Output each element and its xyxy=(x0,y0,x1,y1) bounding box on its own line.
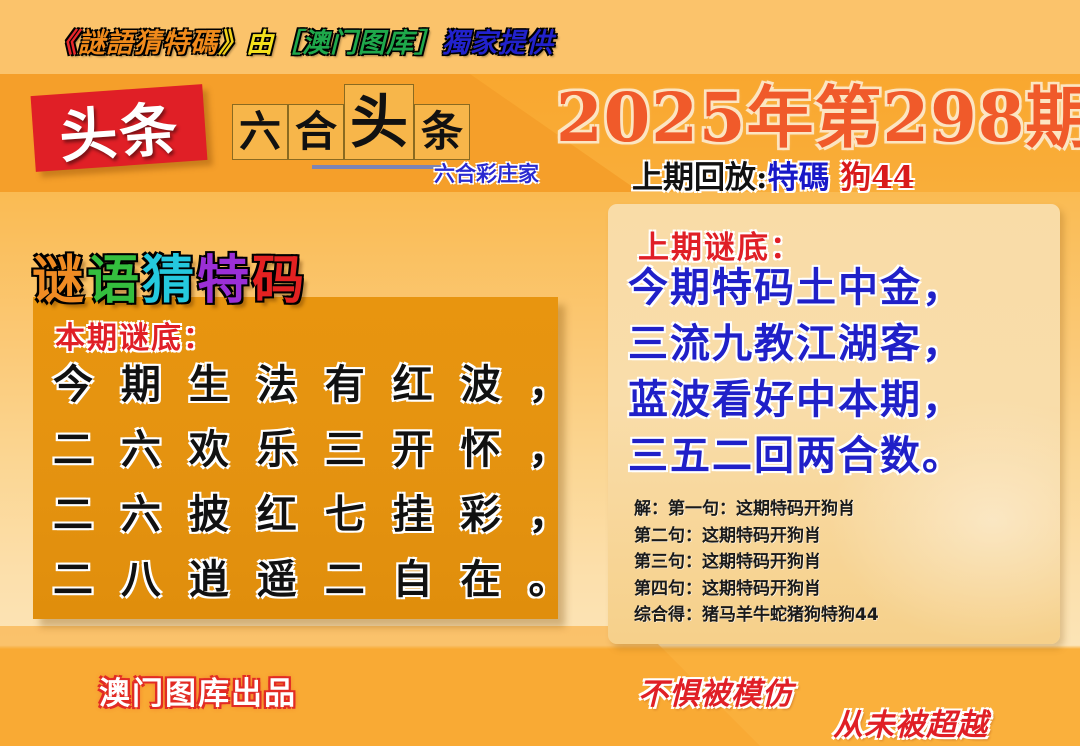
riddle-title-char: 语 xyxy=(87,251,142,311)
special-code-label: 特碼 xyxy=(767,160,829,196)
previous-answer-line: 三五二回两合数。 xyxy=(628,428,1052,484)
explanation-line: 第三句：这期特码开狗肖 xyxy=(634,549,1050,576)
answer-line: 二 六 欢 乐 三 开 怀 ， xyxy=(53,417,552,482)
explanation-summary: 综合得：猪马羊牛蛇猪狗特狗44 xyxy=(634,602,1050,629)
brand-underline xyxy=(312,165,442,169)
brand-cell: 合 xyxy=(288,104,344,160)
riddle-title-char: 码 xyxy=(252,251,307,311)
brand-cell: 条 xyxy=(414,104,470,160)
tagline-part: 由 xyxy=(246,28,274,59)
explanation-notes: 解：第一句：这期特码开狗肖 第二句：这期特码开狗肖 第三句：这期特码开狗肖 第四… xyxy=(634,496,1050,629)
brand-grid-word: 六 合 头 条 xyxy=(232,84,470,160)
answer-line: 二 八 逍 遥 二 自 在 。 xyxy=(53,547,552,612)
poster-canvas: 《謎語猜特碼》由［澳门图库］獨家提供 头条 六 合 头 条 六合彩庄家 2025… xyxy=(0,0,1080,746)
tagline-part: 獨家提供 xyxy=(442,28,554,59)
riddle-title-char: 谜 xyxy=(32,251,87,311)
current-answer-heading: 本期谜底： xyxy=(55,313,215,357)
slogan-primary: 不惧被模仿 xyxy=(638,669,793,713)
answer-line: 今 期 生 法 有 红 波 ， xyxy=(53,352,552,417)
tagline-part: 謎語猜特碼 xyxy=(78,28,218,59)
previous-draw-label: 上期回放: xyxy=(632,160,767,196)
tagline: 《謎語猜特碼》由［澳门图库］獨家提供 xyxy=(50,21,554,60)
previous-answer-lines: 今期特码土中金， 三流九教江湖客， 蓝波看好中本期， 三五二回两合数。 xyxy=(628,260,1052,484)
riddle-title-char: 特 xyxy=(197,251,252,311)
issue-title: 2025年第298期 xyxy=(556,64,1080,161)
slogan-secondary: 从未被超越 xyxy=(833,700,988,744)
headline-tag-label: 头条 xyxy=(31,84,208,172)
previous-draw-result: 狗44 xyxy=(840,160,914,196)
riddle-title-char: 猜 xyxy=(142,251,197,311)
headline-tag-badge: 头条 xyxy=(31,84,208,172)
previous-draw-line: 上期回放:特碼 狗44 xyxy=(632,152,914,197)
previous-answer-line: 今期特码土中金， xyxy=(628,260,1052,316)
tagline-part: 》 xyxy=(218,28,246,59)
publisher-credit: 澳门图库出品 xyxy=(99,668,297,713)
brand-cell: 六 xyxy=(232,104,288,160)
current-answer-lines: 今 期 生 法 有 红 波 ， 二 六 欢 乐 三 开 怀 ， 二 六 披 红 … xyxy=(53,352,552,612)
explanation-line: 第二句：这期特码开狗肖 xyxy=(634,523,1050,550)
current-answer-box: 本期谜底： 今 期 生 法 有 红 波 ， 二 六 欢 乐 三 开 怀 ， 二 … xyxy=(33,297,558,619)
explanation-line: 第四句：这期特码开狗肖 xyxy=(634,576,1050,603)
explanation-line: 解：第一句：这期特码开狗肖 xyxy=(634,496,1050,523)
brand-sub-label: 六合彩庄家 xyxy=(434,158,539,188)
previous-answer-line: 蓝波看好中本期， xyxy=(628,372,1052,428)
previous-answer-panel: 上期谜底： 今期特码土中金， 三流九教江湖客， 蓝波看好中本期， 三五二回两合数… xyxy=(608,204,1060,644)
previous-answer-line: 三流九教江湖客， xyxy=(628,316,1052,372)
brand-cell-emphasis: 头 xyxy=(344,84,414,160)
riddle-section-title: 谜语猜特码 xyxy=(32,238,307,313)
answer-line: 二 六 披 红 七 挂 彩 ， xyxy=(53,482,552,547)
tagline-part: 《 xyxy=(50,28,78,59)
tagline-part: ［澳门图库］ xyxy=(274,28,442,59)
